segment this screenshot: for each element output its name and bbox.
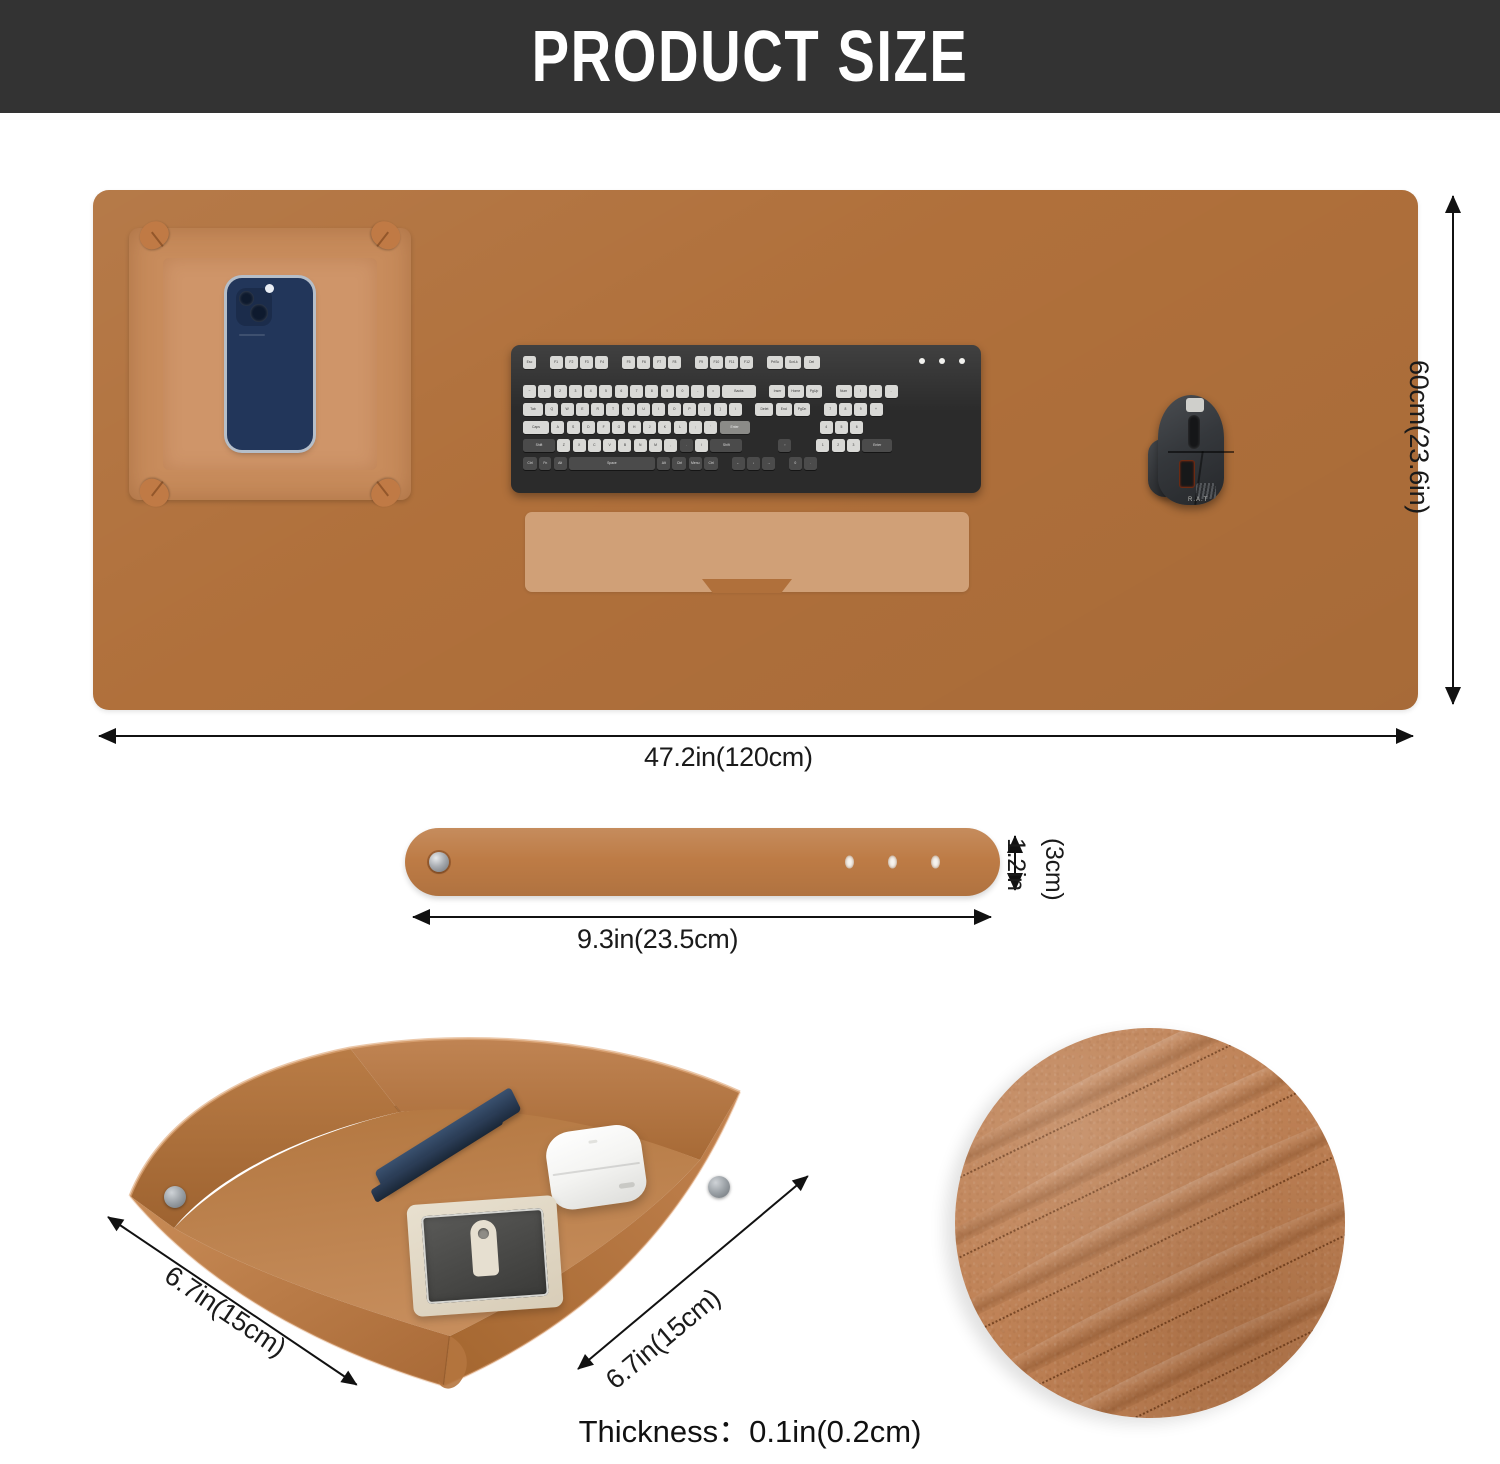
- keyboard-key: F5: [622, 356, 635, 369]
- strap-height-label-line1: 1.2in: [1001, 838, 1030, 891]
- keyboard-row-qwerty: TabQWERTYUIOP[]\DeletEndPgDn789+: [523, 403, 883, 416]
- keyboard-key: [797, 421, 806, 434]
- tray-corner-snap-icon: [134, 216, 174, 255]
- mat-valet-tray: [129, 228, 411, 500]
- keyboard-key: [744, 403, 753, 416]
- tray-snap-button-icon: [164, 1186, 186, 1208]
- keyboard-key: ,: [664, 439, 677, 452]
- keyboard-key: F1: [550, 356, 563, 369]
- keyboard-key: *: [869, 385, 882, 398]
- keyboard-key: 4: [820, 421, 833, 434]
- strap-hole-icon: [888, 856, 897, 869]
- keyboard-key: A: [551, 421, 564, 434]
- keyboard-key: Delet: [755, 403, 773, 416]
- keyboard-key: N: [634, 439, 647, 452]
- keyboard-key: ScrLk: [785, 356, 801, 369]
- strap-width-arrow: [413, 916, 991, 918]
- keyboard-key: R: [591, 403, 604, 416]
- thickness-label: Thickness：0.1in(0.2cm): [0, 1406, 1500, 1451]
- keyboard-key: [808, 421, 817, 434]
- keyboard-key: [824, 385, 833, 398]
- keyboard-key: ~: [523, 385, 536, 398]
- keyboard-key: 1: [538, 385, 551, 398]
- keyboard-key: C: [588, 439, 601, 452]
- keyboard-key: Backs: [722, 385, 756, 398]
- keyboard-key: 5: [835, 421, 848, 434]
- mouse-brand-logo: R.A.T: [1188, 497, 1208, 503]
- keyboard-key: Alt: [554, 457, 567, 470]
- keyboard-key: 5: [599, 385, 612, 398]
- keyboard-key: F2: [565, 356, 578, 369]
- keyboard-key: [763, 421, 772, 434]
- strap-hole-icon: [845, 856, 854, 869]
- keyboard-led-icon: [959, 358, 965, 364]
- keyboard-key: S: [567, 421, 580, 434]
- phone-camera-module: [236, 288, 272, 326]
- keyboard-key: [778, 457, 787, 470]
- keyboard-key: O: [668, 403, 681, 416]
- key-tag-hole-icon: [478, 1228, 490, 1240]
- keyboard-led-icon: [919, 358, 925, 364]
- mouse-top-plate: [1186, 398, 1204, 412]
- keyboard-key: Shift: [710, 439, 742, 452]
- smartphone: [227, 278, 313, 450]
- keyboard-key: 7: [630, 385, 643, 398]
- tray-corner-snap-icon: [366, 474, 406, 513]
- leather-texture-closeup: [955, 1028, 1345, 1418]
- keyboard-key: Inser: [769, 385, 785, 398]
- keyboard-key: 8: [645, 385, 658, 398]
- keyboard-key: [758, 385, 767, 398]
- camera-flash-icon: [265, 284, 274, 293]
- keyboard-key: [756, 439, 765, 452]
- keyboard-key: F4: [595, 356, 608, 369]
- keyboard-key: Ctrl: [523, 457, 537, 470]
- wrist-rest-notch: [702, 579, 792, 593]
- keyboard-key: F6: [637, 356, 650, 369]
- keyboard-key: [611, 356, 620, 369]
- keyboard-key: F3: [580, 356, 593, 369]
- strap-hole-icon: [931, 856, 940, 869]
- earbuds-case-seam: [553, 1162, 640, 1176]
- keyboard-key: Space: [569, 457, 655, 470]
- keyboard-row-space: CtrlFnAltSpaceAltCtrlMenuCtrl←↓→0.: [523, 457, 828, 470]
- keyboard-key: ↓: [747, 457, 760, 470]
- product-size-infographic: PRODUCT SIZE EscF1F2F3F4F5F6F7F8F9F10F: [0, 0, 1500, 1464]
- earbuds-case-indicator-icon: [588, 1140, 597, 1144]
- keyboard-key: 6: [850, 421, 863, 434]
- keyboard-key: 3: [569, 385, 582, 398]
- keyboard-key: [812, 403, 821, 416]
- keyboard-key: \: [729, 403, 742, 416]
- keyboard-key: Del: [804, 356, 820, 369]
- keyboard-key: X: [573, 439, 586, 452]
- keyboard-key: G: [612, 421, 625, 434]
- keyboard-key: [794, 439, 803, 452]
- keyboard-key: [767, 439, 776, 452]
- keyboard-key: Tab: [523, 403, 543, 416]
- keyboard-key: [745, 439, 754, 452]
- keyboard-key: 7: [824, 403, 837, 416]
- keyboard-key: +: [870, 403, 883, 416]
- keyboard-key: L: [674, 421, 687, 434]
- keyboard-key: Ctrl: [704, 457, 718, 470]
- page-header: PRODUCT SIZE: [0, 0, 1500, 113]
- keyboard-key: ←: [732, 457, 745, 470]
- keyboard-row-number: ~1234567890-=BacksInserHomePgUpNum/*-: [523, 385, 898, 398]
- keyboard-key: F9: [695, 356, 708, 369]
- keyboard-key: Enter: [720, 421, 750, 434]
- keyboard-key: ]: [714, 403, 727, 416]
- keyboard-key: Alt: [657, 457, 670, 470]
- keyboard-key: K: [658, 421, 671, 434]
- leather-shading: [955, 1028, 1345, 1418]
- tray-corner-snap-icon: [134, 474, 174, 513]
- keyboard-key: D: [582, 421, 595, 434]
- keyboard-row-function: EscF1F2F3F4F5F6F7F8F9F10F11F12PrtScScrLk…: [523, 356, 820, 369]
- keyboard-key: F7: [653, 356, 666, 369]
- wrist-rest: [525, 512, 969, 592]
- keyboard-key: Fn: [539, 457, 551, 470]
- keyboard-key: Num: [836, 385, 852, 398]
- keyboard-key: F: [597, 421, 610, 434]
- strap-width-label: 9.3in(23.5cm): [577, 924, 738, 955]
- keyboard-row-shift: ShiftZXCVBNM,./Shift↑123Enter: [523, 439, 892, 452]
- keyboard-key: 4: [584, 385, 597, 398]
- keyboard-key: U: [637, 403, 650, 416]
- keyboard-key: Y: [622, 403, 635, 416]
- keyboard-key: F11: [725, 356, 738, 369]
- keyboard-key: [720, 457, 729, 470]
- keyboard-key: [805, 439, 814, 452]
- leather-strap: [405, 828, 1000, 896]
- key-card-tray: [406, 1195, 563, 1317]
- keyboard-key: Esc: [523, 356, 536, 369]
- keyboard-key: 0: [789, 457, 802, 470]
- keyboard-key: [756, 356, 765, 369]
- keyboard-key: →: [762, 457, 775, 470]
- keyboard-key: Q: [545, 403, 558, 416]
- mouse-body: R.A.T: [1158, 395, 1224, 505]
- camera-lens-icon: [250, 304, 268, 322]
- keyboard-key: [786, 421, 795, 434]
- keyboard-key: -: [885, 385, 898, 398]
- keyboard-key: [752, 421, 761, 434]
- gaming-mouse: R.A.T: [1148, 395, 1234, 507]
- keyboard-key: E: [576, 403, 589, 416]
- keyboard-key: .: [804, 457, 817, 470]
- mouse-scroll-wheel-icon: [1188, 415, 1200, 449]
- keyboard-key: .: [680, 439, 693, 452]
- keyboard-key: End: [776, 403, 792, 416]
- mat-width-label: 47.2in(120cm): [644, 742, 813, 773]
- mat-width-arrow: [99, 735, 1413, 737]
- keyboard-key: P: [683, 403, 696, 416]
- keyboard-key: Home: [788, 385, 804, 398]
- mat-height-arrow: [1452, 196, 1454, 704]
- keyboard-row-home: Caps ASDFGHJKL;'Enter456: [523, 421, 863, 434]
- keyboard-key: PrtSc: [767, 356, 783, 369]
- keyboard-indicator-leds: [919, 358, 965, 364]
- keyboard-led-icon: [939, 358, 945, 364]
- phone-detail-line: [239, 334, 265, 336]
- desk-mat: EscF1F2F3F4F5F6F7F8F9F10F11F12PrtScScrLk…: [93, 190, 1418, 710]
- keyboard-key: 9: [661, 385, 674, 398]
- strap-sheen: [405, 828, 1000, 896]
- keyboard-key: =: [707, 385, 720, 398]
- keyboard-key: M: [649, 439, 662, 452]
- keyboard-key: Z: [557, 439, 570, 452]
- strap-snap-button-icon: [429, 852, 449, 872]
- keyboard-key: PgUp: [806, 385, 822, 398]
- keyboard-key: ;: [689, 421, 702, 434]
- earbuds-case-port-icon: [619, 1182, 636, 1189]
- keyboard-key: [538, 356, 547, 369]
- tray-snap-button-icon: [708, 1176, 730, 1198]
- keyboard-key: Enter: [862, 439, 892, 452]
- keyboard-key: 1: [816, 439, 829, 452]
- tray-corner-snap-icon: [366, 216, 406, 255]
- keyboard-key: Caps: [523, 421, 549, 434]
- keyboard-key: J: [643, 421, 656, 434]
- keyboard-key: 2: [554, 385, 567, 398]
- keyboard-key: ↑: [778, 439, 791, 452]
- keyboard-key: Shift: [523, 439, 555, 452]
- keyboard-key: 3: [847, 439, 860, 452]
- keyboard-key: F10: [710, 356, 723, 369]
- keyboard-key: 2: [832, 439, 845, 452]
- keyboard-key: H: [628, 421, 641, 434]
- keyboard-key: [819, 457, 828, 470]
- keyboard-key: 0: [676, 385, 689, 398]
- keyboard-key: -: [691, 385, 704, 398]
- keyboard-key: /: [695, 439, 708, 452]
- key-tag-icon: [470, 1219, 500, 1277]
- page-title: PRODUCT SIZE: [532, 16, 969, 98]
- keyboard: EscF1F2F3F4F5F6F7F8F9F10F11F12PrtScScrLk…: [511, 345, 981, 493]
- keyboard-key: 8: [839, 403, 852, 416]
- keyboard-key: V: [603, 439, 616, 452]
- keyboard-key: /: [854, 385, 867, 398]
- keyboard-key: 9: [854, 403, 867, 416]
- keyboard-key: F8: [668, 356, 681, 369]
- keyboard-key: Ctrl: [672, 457, 686, 470]
- keyboard-key: PgDn: [794, 403, 810, 416]
- keyboard-key: [774, 421, 783, 434]
- valet-tray: [100, 1000, 820, 1420]
- keyboard-key: [683, 356, 692, 369]
- keyboard-key: [: [698, 403, 711, 416]
- keyboard-key: ': [704, 421, 717, 434]
- keyboard-key: F12: [740, 356, 753, 369]
- keyboard-key: T: [606, 403, 619, 416]
- mat-height-label: 60cm(23.6in): [1403, 360, 1434, 514]
- keyboard-key: W: [561, 403, 574, 416]
- keyboard-key: Menu: [689, 457, 702, 470]
- strap-height-label-line2: (3cm): [1039, 838, 1068, 900]
- keyboard-key: I: [652, 403, 665, 416]
- earbuds-case: [543, 1122, 649, 1213]
- keyboard-key: B: [618, 439, 631, 452]
- keyboard-key: 6: [615, 385, 628, 398]
- camera-lens-icon: [239, 291, 254, 306]
- mouse-side-buttons: [1180, 461, 1194, 487]
